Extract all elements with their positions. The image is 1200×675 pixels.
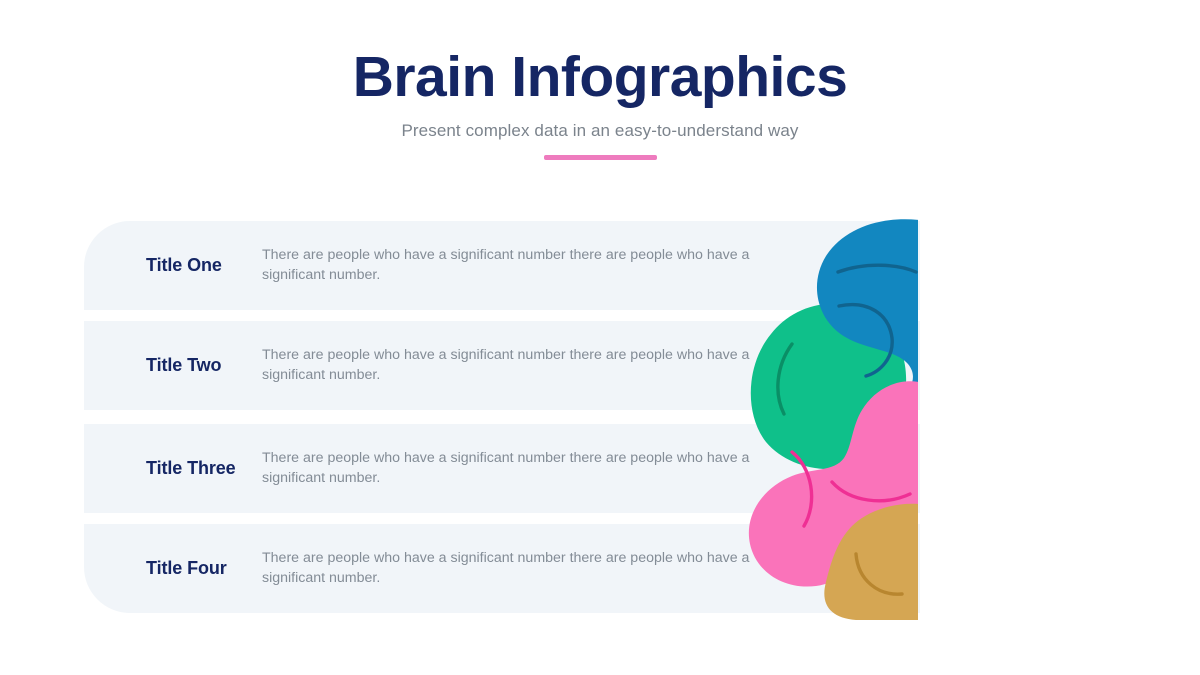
- accent-underline: [544, 155, 657, 160]
- header: Brain Infographics Present complex data …: [0, 0, 1200, 160]
- sulcus-temporal-right-2: [942, 482, 1020, 501]
- row-title: Title Three: [84, 458, 262, 479]
- page-subtitle: Present complex data in an easy-to-under…: [0, 121, 1200, 141]
- row-title: Title Four: [84, 558, 262, 579]
- row-title: Title One: [84, 255, 262, 276]
- sulcus-frontal-right-2: [960, 305, 1013, 376]
- row-title: Title Two: [84, 355, 262, 376]
- lobe-cerebellum-right: [933, 504, 1028, 620]
- lobe-temporal-right: [933, 381, 1103, 586]
- brain-left-hemisphere: [749, 219, 919, 620]
- slide-root: Brain Infographics Present complex data …: [0, 0, 1200, 675]
- brain-illustration: [726, 214, 1126, 624]
- brain-right-hemisphere: [933, 219, 1103, 620]
- page-title: Brain Infographics: [0, 48, 1200, 108]
- sulcus-frontal-right: [936, 265, 1014, 272]
- lobe-parietal-right: [946, 304, 1101, 469]
- sulcus-temporal-right: [1040, 452, 1060, 526]
- lobe-frontal-right: [933, 219, 1035, 502]
- sulcus-cerebellum-right: [950, 554, 996, 594]
- sulcus-parietal-right: [1060, 344, 1074, 414]
